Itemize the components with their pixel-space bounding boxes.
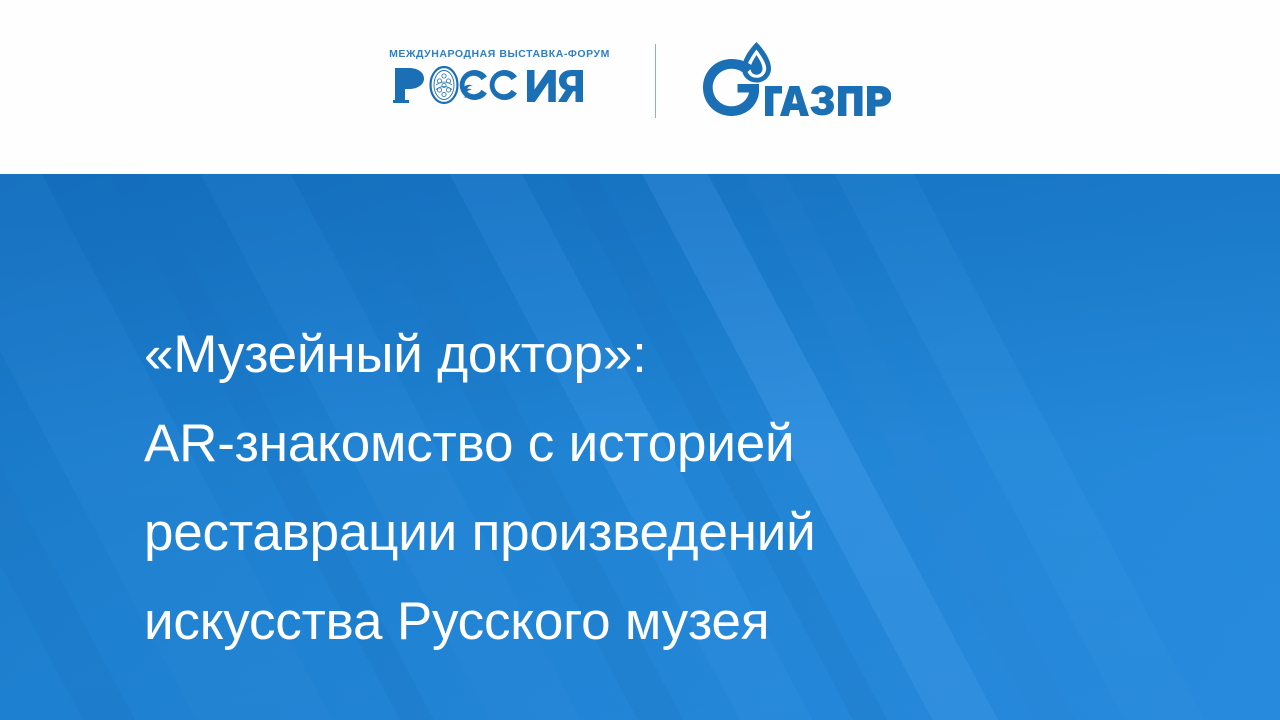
rossiya-wordmark-icon (391, 65, 609, 109)
presentation-slide: МЕЖДУНАРОДНАЯ ВЫСТАВКА-ФОРУМ (0, 0, 1280, 720)
slide-title: «Музейный доктор»: AR-знакомство с истор… (144, 310, 1094, 666)
gazprom-logo: ГАЗПРОМ ГАЗПРОМ (701, 40, 891, 118)
title-line-4: искусства Русского музея (144, 577, 1094, 666)
gazprom-logo-icon: ГАЗПРОМ (701, 40, 891, 118)
slide-header: МЕЖДУНАРОДНАЯ ВЫСТАВКА-ФОРУМ (0, 0, 1280, 174)
slide-body: «Музейный доктор»: AR-знакомство с истор… (0, 174, 1280, 720)
header-logo-group: МЕЖДУНАРОДНАЯ ВЫСТАВКА-ФОРУМ (389, 40, 891, 118)
title-line-3: реставрации произведений (144, 488, 1094, 577)
rossiya-logo-tagline: МЕЖДУНАРОДНАЯ ВЫСТАВКА-ФОРУМ (389, 49, 610, 60)
rossiya-logo: МЕЖДУНАРОДНАЯ ВЫСТАВКА-ФОРУМ (389, 49, 610, 109)
title-line-1: «Музейный доктор»: (144, 310, 1094, 399)
logo-divider (655, 44, 656, 118)
title-line-2: AR-знакомство с историей (144, 399, 1094, 488)
